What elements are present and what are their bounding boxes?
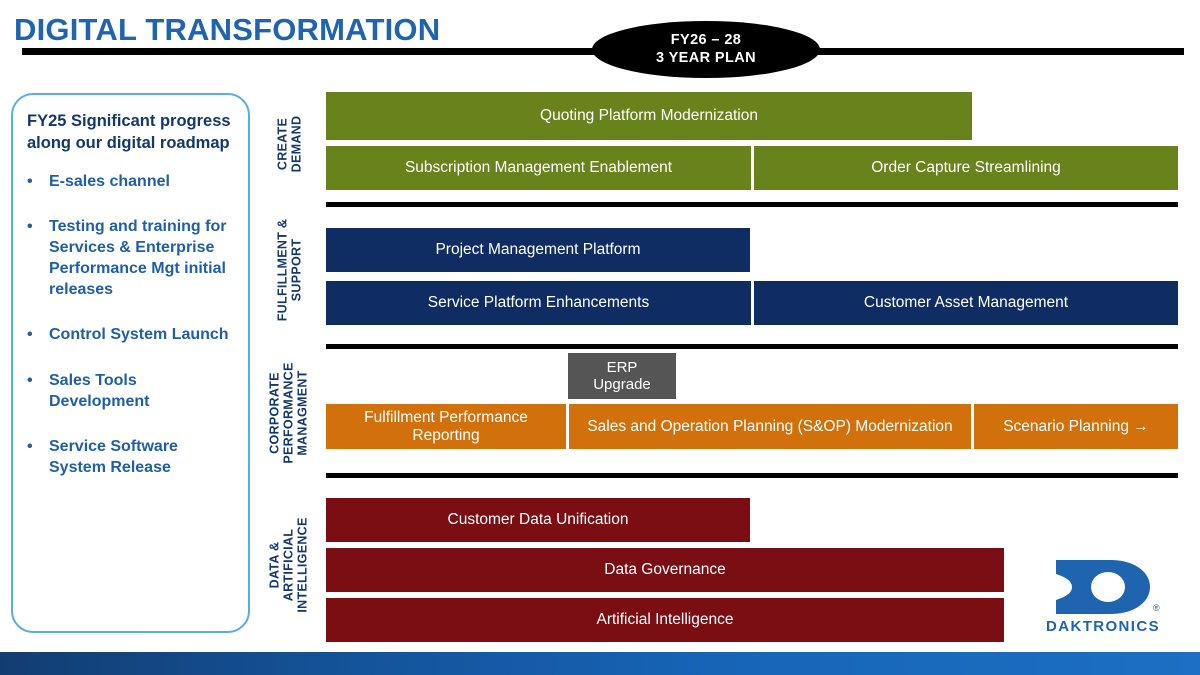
callout-item-label: Control System Launch: [49, 324, 234, 345]
swimlane-label-data-and-artificial-intelligence: DATA & ARTIFICIAL INTELLIGENCE: [258, 485, 320, 645]
bar-artificial-intelligence[interactable]: Artificial Intelligence: [326, 598, 1004, 642]
callout-item-label: Sales Tools Development: [49, 370, 234, 412]
callout-bullet-list: • E-sales channel • Testing and training…: [27, 171, 234, 478]
bar-service-platform-enhancements[interactable]: Service Platform Enhancements: [326, 281, 751, 325]
slide-canvas: DIGITAL TRANSFORMATION FY26 – 28 3 YEAR …: [0, 0, 1200, 675]
fy25-progress-callout: FY25 Significant progress along our digi…: [11, 93, 250, 633]
swimlane-separator-3: [326, 473, 1178, 478]
bullet-icon: •: [27, 171, 49, 192]
swimlane-label-line: CREATE: [275, 118, 289, 170]
list-item: • Testing and training for Services & En…: [27, 216, 234, 300]
bar-erp-upgrade[interactable]: ERP Upgrade: [568, 353, 676, 399]
bar-scenario-planning[interactable]: Scenario Planning →: [974, 404, 1178, 449]
list-item: • Service Software System Release: [27, 436, 234, 478]
daktronics-logo: ® DAKTRONICS: [1032, 556, 1174, 638]
swimlane-label-fulfillment-and-support: FULFILLMENT & SUPPORT: [258, 200, 320, 340]
callout-headline: FY25 Significant progress along our digi…: [27, 111, 234, 155]
bar-customer-asset-management[interactable]: Customer Asset Management: [754, 281, 1178, 325]
bar-project-management-platform[interactable]: Project Management Platform: [326, 228, 750, 272]
svg-text:®: ®: [1153, 603, 1160, 613]
swimlane-label-line: FULFILLMENT &: [275, 219, 289, 322]
bullet-icon: •: [27, 436, 49, 457]
list-item: • Control System Launch: [27, 324, 234, 345]
swimlane-label-corporate-performance-managment: CORPORATE PERFORMANCE MANAGMENT: [258, 340, 320, 485]
callout-item-label: E-sales channel: [49, 171, 234, 192]
daktronics-d-icon: ®: [1032, 556, 1174, 618]
fy-plan-badge-line1: FY26 – 28: [671, 32, 742, 49]
footer-accent-bar: [0, 652, 1200, 675]
callout-item-label: Service Software System Release: [49, 436, 234, 478]
swimlane-label-line: DEMAND: [289, 116, 303, 173]
swimlane-label-line: SUPPORT: [289, 239, 303, 302]
bullet-icon: •: [27, 324, 49, 345]
swimlane-label-line: PERFORMANCE: [282, 362, 296, 463]
bar-quoting-platform-modernization[interactable]: Quoting Platform Modernization: [326, 92, 972, 140]
swimlane-label-line: DATA &: [268, 542, 282, 589]
callout-item-label: Testing and training for Services & Ente…: [49, 216, 234, 300]
bullet-icon: •: [27, 216, 49, 237]
bullet-icon: •: [27, 370, 49, 391]
swimlane-label-line: MANAGMENT: [296, 370, 310, 455]
bar-order-capture-streamlining[interactable]: Order Capture Streamlining: [754, 146, 1178, 190]
bar-fulfillment-performance-reporting[interactable]: Fulfillment Performance Reporting: [326, 404, 566, 449]
bar-customer-data-unification[interactable]: Customer Data Unification: [326, 498, 750, 542]
page-title: DIGITAL TRANSFORMATION: [14, 12, 440, 48]
swimlane-label-line: INTELLIGENCE: [296, 517, 310, 612]
list-item: • E-sales channel: [27, 171, 234, 192]
bar-sales-and-operation-planning-modernization[interactable]: Sales and Operation Planning (S&OP) Mode…: [569, 404, 971, 449]
list-item: • Sales Tools Development: [27, 370, 234, 412]
bar-subscription-management-enablement[interactable]: Subscription Management Enablement: [326, 146, 751, 190]
swimlane-label-line: CORPORATE: [268, 372, 282, 454]
swimlane-separator-2: [326, 344, 1178, 349]
fy-plan-badge-line2: 3 YEAR PLAN: [656, 50, 756, 67]
swimlane-label-create-demand: CREATE DEMAND: [258, 88, 320, 200]
swimlane-separator-1: [326, 202, 1178, 207]
daktronics-wordmark: DAKTRONICS: [1032, 618, 1174, 635]
swimlane-label-line: ARTIFICIAL: [282, 529, 296, 601]
fy-plan-badge: FY26 – 28 3 YEAR PLAN: [592, 21, 820, 78]
bar-data-governance[interactable]: Data Governance: [326, 548, 1004, 592]
